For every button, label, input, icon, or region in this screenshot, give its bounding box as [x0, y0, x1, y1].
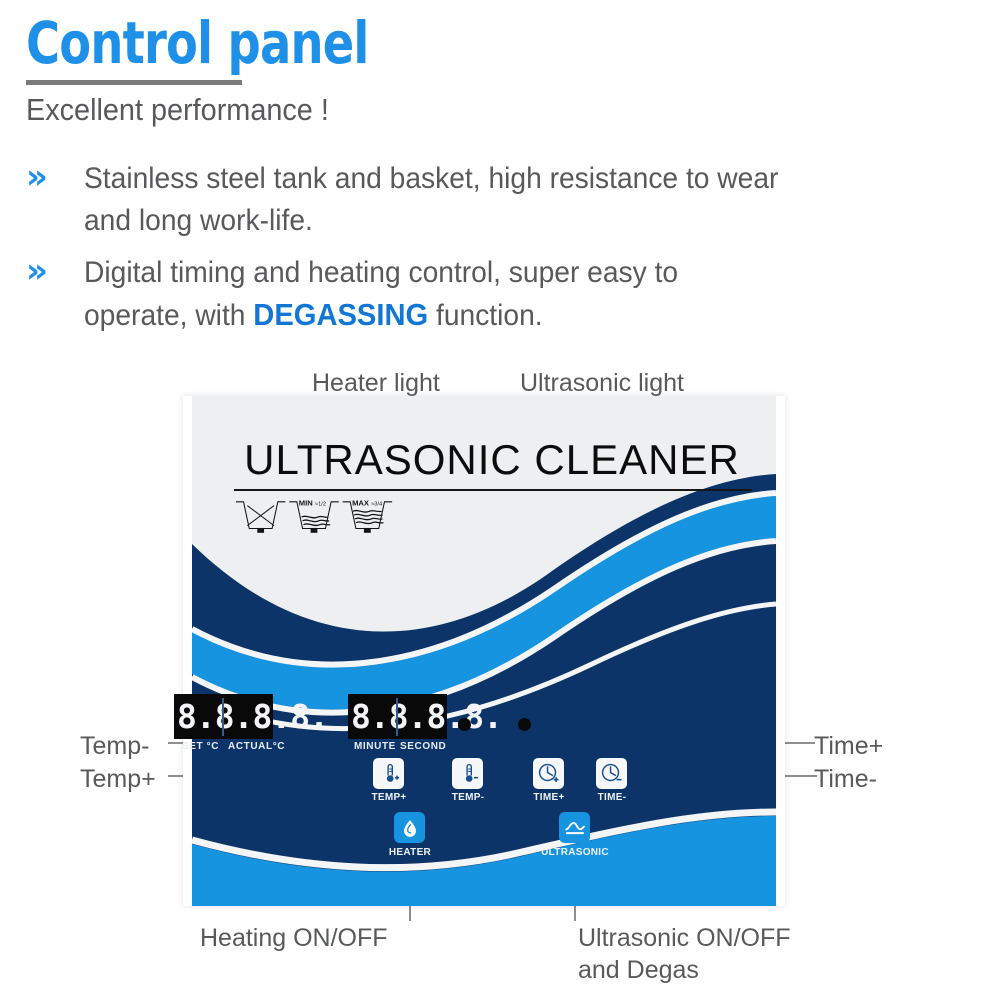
minute-label: MINUTE: [354, 741, 396, 752]
actual-temp-label: ACTUAL°C: [228, 741, 285, 752]
double-chevron-right-icon: »: [26, 160, 78, 194]
set-temp-label: SET °C: [182, 741, 219, 752]
time-display: 8.8.8.8.: [348, 694, 447, 739]
callout-ultrasonic-degas: and Degas: [578, 954, 699, 986]
title-divider: [26, 80, 242, 85]
control-panel-face: ULTRASONIC CLEANER: [192, 396, 776, 906]
tank-max-label: MAX: [352, 499, 370, 508]
temperature-display-separator: [222, 698, 224, 736]
callout-temp-minus: Temp-: [80, 730, 149, 762]
bullet-2-line-1: Digital timing and heating control, supe…: [84, 252, 932, 294]
ultrasonic-indicator-light: [518, 718, 531, 731]
temp-plus-button-label: TEMP+: [371, 792, 407, 803]
degassing-highlight: DEGASSING: [253, 297, 428, 332]
device-title: ULTRASONIC CLEANER: [232, 436, 752, 484]
heater-button[interactable]: [394, 812, 425, 843]
callout-heater-light: Heater light: [312, 367, 440, 399]
tank-empty-icon: [236, 502, 286, 532]
callout-ultrasonic-onoff: Ultrasonic ON/OFF: [578, 922, 791, 954]
tank-min-label: MIN: [299, 499, 313, 508]
ultrasonic-button-label: ULTRASONIC: [538, 847, 612, 858]
subtitle: Excellent performance !: [26, 92, 329, 128]
device-title-underline: [234, 489, 752, 491]
callout-temp-plus: Temp+: [80, 763, 156, 795]
time-display-separator: [396, 698, 398, 736]
bullet-2-post: function.: [428, 299, 542, 332]
header-section: Control panel Excellent performance ! » …: [0, 0, 1000, 350]
feature-bullet-2: » Digital timing and heating control, su…: [26, 252, 986, 337]
bullet-2-pre: operate, with: [84, 299, 253, 332]
tank-min-icon: [289, 502, 339, 532]
temp-plus-button[interactable]: [373, 758, 404, 789]
clock-plus-icon: [537, 762, 560, 785]
bullet-1-line-1: Stainless steel tank and basket, high re…: [84, 158, 932, 200]
temperature-display: 8.8.8.8.: [174, 694, 273, 739]
heater-indicator-light: [458, 718, 471, 731]
clock-minus-icon: [600, 762, 623, 785]
callout-time-plus: Time+: [814, 730, 883, 762]
ultrasonic-button[interactable]: [559, 812, 590, 843]
time-minus-button-label: TIME-: [594, 792, 630, 803]
temperature-display-value: 8.8.8.8.: [177, 699, 328, 735]
time-minus-button[interactable]: [596, 758, 627, 789]
callout-heating-onoff: Heating ON/OFF: [200, 922, 388, 954]
bullet-1-line-2: and long work-life.: [84, 200, 932, 242]
temp-minus-button-label: TEMP-: [450, 792, 486, 803]
water-drop-icon: [400, 818, 420, 838]
sound-wave-icon: [564, 817, 586, 839]
thermometer-plus-icon: [378, 763, 400, 785]
control-panel-photo: ULTRASONIC CLEANER: [183, 396, 785, 906]
feature-bullet-1: » Stainless steel tank and basket, high …: [26, 158, 986, 242]
temp-minus-button[interactable]: [452, 758, 483, 789]
page-title: Control panel: [26, 12, 369, 74]
tank-max-level: ≈3/4: [371, 502, 382, 508]
second-label: SECOND: [400, 741, 446, 752]
heater-button-label: HEATER: [384, 847, 436, 858]
time-display-value: 8.8.8.8.: [351, 699, 502, 735]
callout-time-minus: Time-: [814, 763, 877, 795]
time-plus-button[interactable]: [533, 758, 564, 789]
time-plus-button-label: TIME+: [531, 792, 567, 803]
callout-ultrasonic-light: Ultrasonic light: [520, 367, 684, 399]
tank-level-icons-group: MIN ≈1/2 MAX ≈3/4: [234, 496, 394, 540]
double-chevron-right-icon: »: [26, 254, 78, 288]
tank-min-level: ≈1/2: [315, 502, 326, 508]
thermometer-minus-icon: [457, 763, 479, 785]
bullet-2-line-2: operate, with DEGASSING function.: [84, 294, 932, 337]
